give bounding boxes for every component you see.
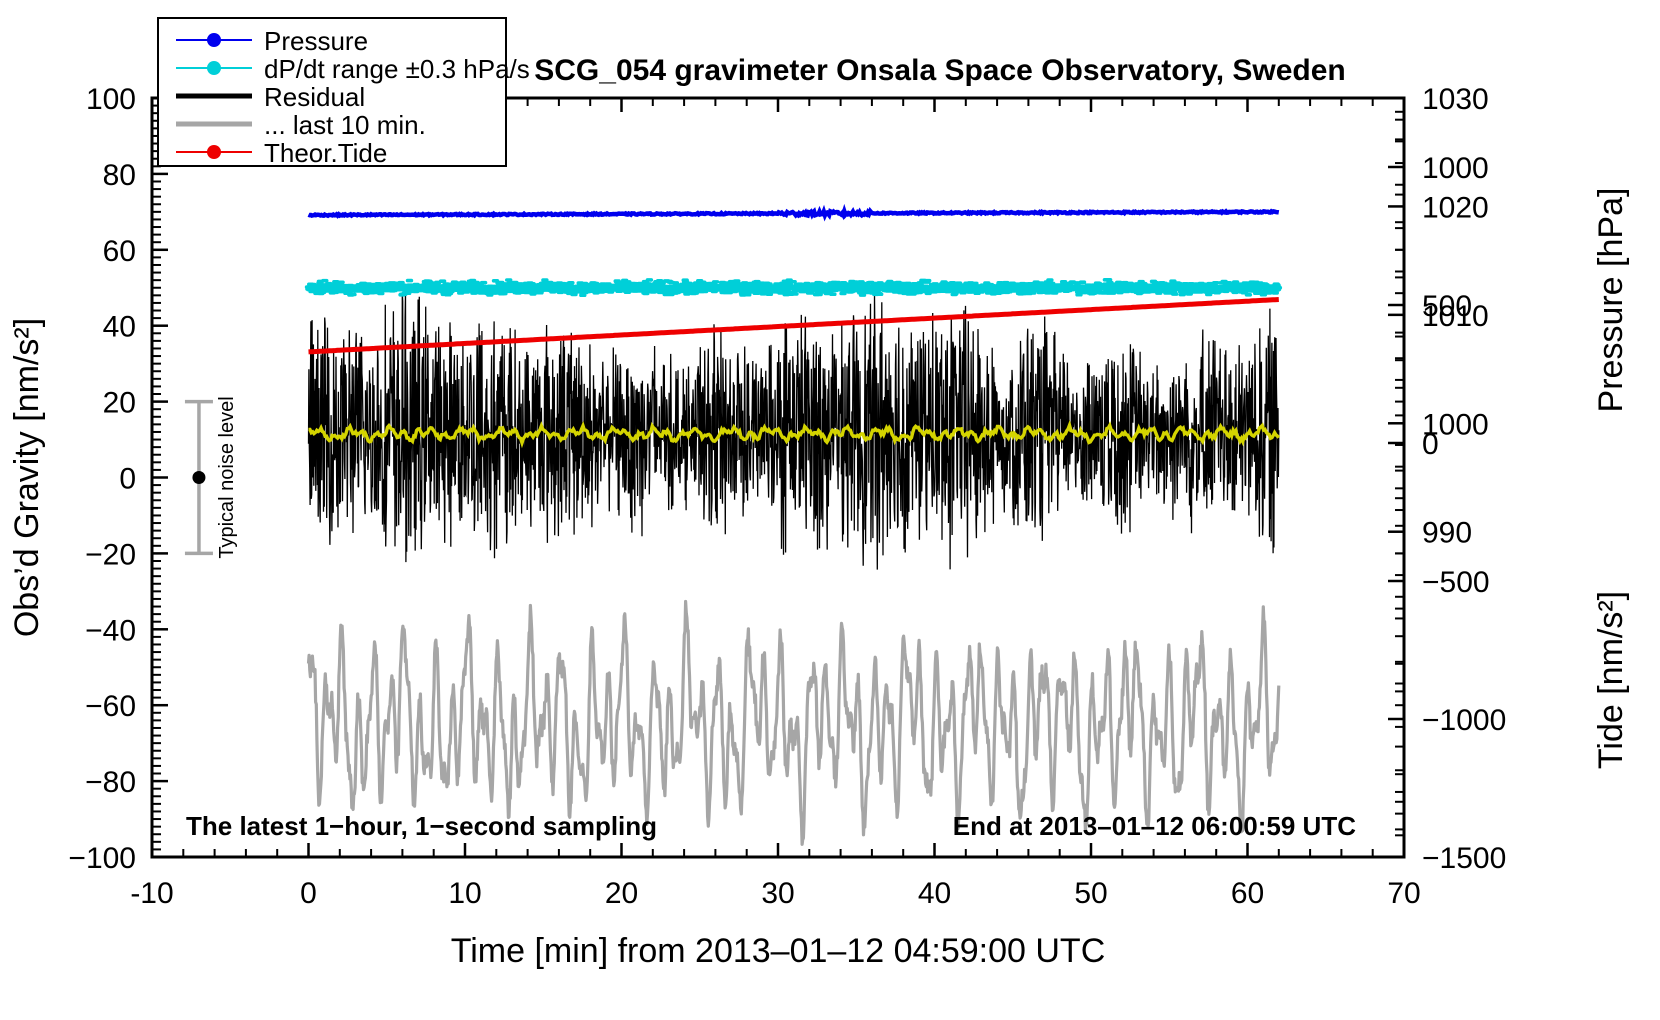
legend-marker-4	[207, 145, 221, 159]
y-tick-label-left: 80	[103, 159, 136, 192]
annotation-sampling-note: The latest 1−hour, 1−second sampling	[186, 811, 657, 841]
y-axis-title-left: Obs’d Gravity [nm/s²]	[8, 318, 46, 637]
x-axis-title: Time [min] from 2013–01–12 04:59:00 UTC	[451, 932, 1106, 970]
y-tick-label-left: −60	[85, 690, 136, 723]
chart-title: SCG_054 gravimeter Onsala Space Observat…	[534, 54, 1346, 87]
y-tick-label-tide: 1000	[1422, 152, 1489, 185]
legend-label-2: Residual	[264, 82, 365, 112]
y-tick-label-pressure: 1030	[1422, 83, 1489, 116]
noise-level-dot	[192, 471, 205, 484]
y-tick-label-left: 60	[103, 235, 136, 268]
y-axis-title-tide: Tide [nm/s²]	[1592, 591, 1630, 769]
gravimeter-chart: -10010203040506070Time [min] from 2013–0…	[0, 0, 1660, 1020]
x-tick-label: 70	[1387, 877, 1420, 910]
y-axis-title-pressure: Pressure [hPa]	[1592, 188, 1630, 413]
x-tick-label: 0	[300, 877, 317, 910]
y-tick-label-left: 20	[103, 387, 136, 420]
y-tick-label-pressure: 990	[1422, 517, 1472, 550]
y-tick-label-tide: −500	[1422, 566, 1490, 599]
noise-level-label: Typical noise level	[216, 396, 238, 558]
y-tick-label-pressure: 1020	[1422, 191, 1489, 224]
legend-marker-1	[207, 61, 221, 75]
y-tick-label-left: −40	[85, 614, 136, 647]
series-dpdt-scatter	[307, 280, 1281, 295]
y-tick-label-tide: 0	[1422, 428, 1439, 461]
legend-label-3: ... last 10 min.	[264, 110, 426, 140]
series-pressure	[309, 211, 1279, 216]
legend-marker-0	[207, 33, 221, 47]
y-tick-label-left: −20	[85, 538, 136, 571]
y-tick-label-left: −100	[68, 842, 136, 875]
series-residual	[309, 294, 1279, 570]
x-tick-label: 10	[448, 877, 481, 910]
legend-label-1: dP/dt range ±0.3 hPa/s	[264, 54, 530, 84]
y-tick-label-left: 40	[103, 311, 136, 344]
series-last-10-min	[309, 602, 1279, 845]
annotation-end-time-note: End at 2013–01–12 06:00:59 UTC	[953, 811, 1356, 841]
legend-label-0: Pressure	[264, 26, 368, 56]
y-tick-label-tide: −1500	[1422, 842, 1506, 875]
x-tick-label: 50	[1074, 877, 1107, 910]
x-tick-label: 40	[918, 877, 951, 910]
series-theor-tide	[309, 300, 1279, 352]
y-tick-label-left: 0	[119, 463, 136, 496]
y-tick-label-left: 100	[86, 83, 136, 116]
x-tick-label: -10	[130, 877, 173, 910]
x-tick-label: 30	[761, 877, 794, 910]
x-tick-label: 20	[605, 877, 638, 910]
legend-label-4: Theor.Tide	[264, 138, 387, 168]
y-tick-label-left: −80	[85, 766, 136, 799]
x-tick-label: 60	[1231, 877, 1264, 910]
gravimeter-plot-page: -10010203040506070Time [min] from 2013–0…	[0, 0, 1660, 1020]
y-tick-label-tide: 500	[1422, 290, 1472, 323]
y-tick-label-tide: −1000	[1422, 704, 1506, 737]
